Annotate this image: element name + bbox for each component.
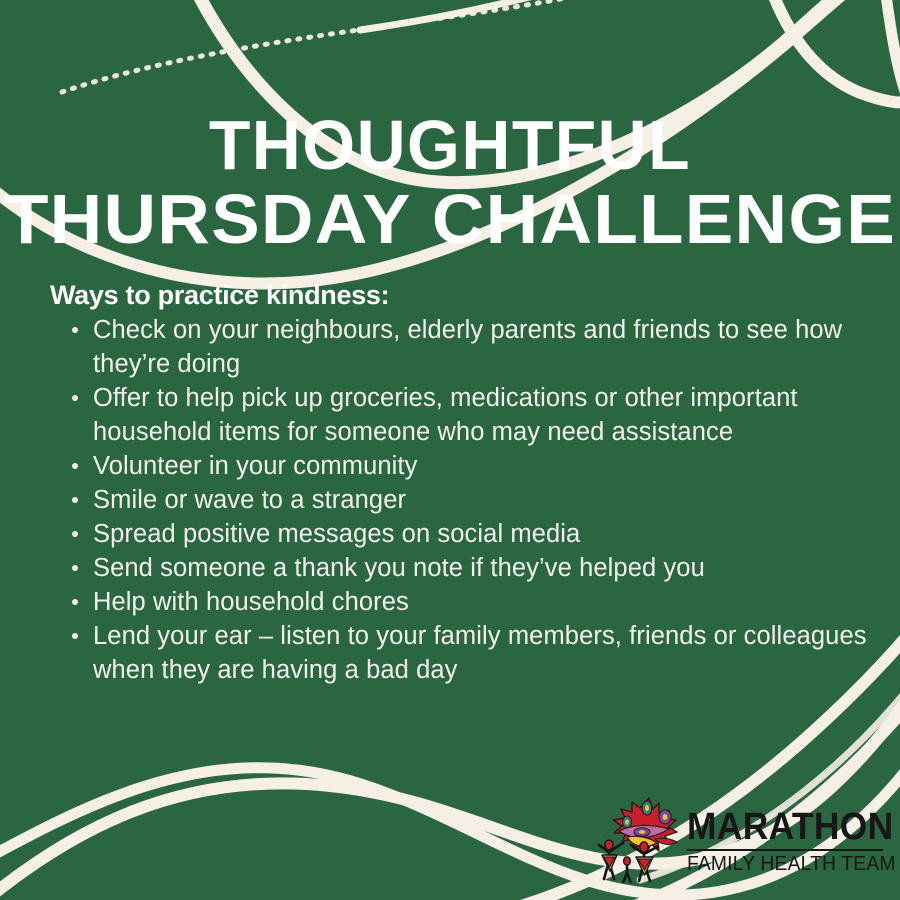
logo-name: MARATHON — [687, 808, 893, 846]
bullet-dot-icon — [72, 497, 78, 503]
list-item: Offer to help pick up groceries, medicat… — [50, 381, 870, 449]
kindness-heading: Ways to practice kindness: — [50, 279, 870, 311]
list-item-text: Smile or wave to a stranger — [93, 486, 406, 514]
bullet-dot-icon — [72, 531, 78, 537]
list-item-text: Lend your ear – listen to your family me… — [93, 622, 867, 684]
bullet-dot-icon — [72, 633, 78, 639]
kindness-list: Check on your neighbours, elderly parent… — [50, 313, 870, 687]
bullet-dot-icon — [72, 463, 78, 469]
list-item: Send someone a thank you note if they’ve… — [50, 551, 870, 585]
bullet-dot-icon — [72, 565, 78, 571]
list-item: Volunteer in your community — [50, 449, 870, 483]
list-item: Spread positive messages on social media — [50, 517, 870, 551]
maple-leaf-with-figures-icon — [597, 795, 683, 883]
list-item: Help with household chores — [50, 585, 870, 619]
list-item: Check on your neighbours, elderly parent… — [50, 313, 870, 381]
poster-title: THOUGHTFUL THURSDAY CHALLENGE — [0, 108, 900, 256]
list-item-text: Help with household chores — [93, 588, 409, 616]
bullet-dot-icon — [72, 395, 78, 401]
bullet-dot-icon — [72, 599, 78, 605]
list-item-text: Spread positive messages on social media — [93, 520, 580, 548]
list-item: Lend your ear – listen to your family me… — [50, 619, 870, 687]
logo-subtitle: FAMILY HEALTH TEAM — [687, 853, 896, 875]
list-item-text: Check on your neighbours, elderly parent… — [93, 316, 842, 378]
marathon-fht-logo: MARATHON FAMILY HEALTH TEAM — [597, 793, 887, 885]
poster-canvas: THOUGHTFUL THURSDAY CHALLENGE Ways to pr… — [0, 0, 900, 900]
list-item-text: Send someone a thank you note if they’ve… — [93, 554, 705, 582]
logo-divider — [687, 849, 883, 851]
content-block: Ways to practice kindness: Check on your… — [50, 279, 870, 687]
title-line-2: THURSDAY CHALLENGE — [0, 182, 900, 256]
bullet-dot-icon — [72, 327, 78, 333]
list-item-text: Offer to help pick up groceries, medicat… — [93, 384, 798, 446]
title-line-1: THOUGHTFUL — [14, 108, 887, 182]
list-item: Smile or wave to a stranger — [50, 483, 870, 517]
logo-wordmark: MARATHON FAMILY HEALTH TEAM — [687, 804, 900, 875]
list-item-text: Volunteer in your community — [93, 452, 417, 480]
